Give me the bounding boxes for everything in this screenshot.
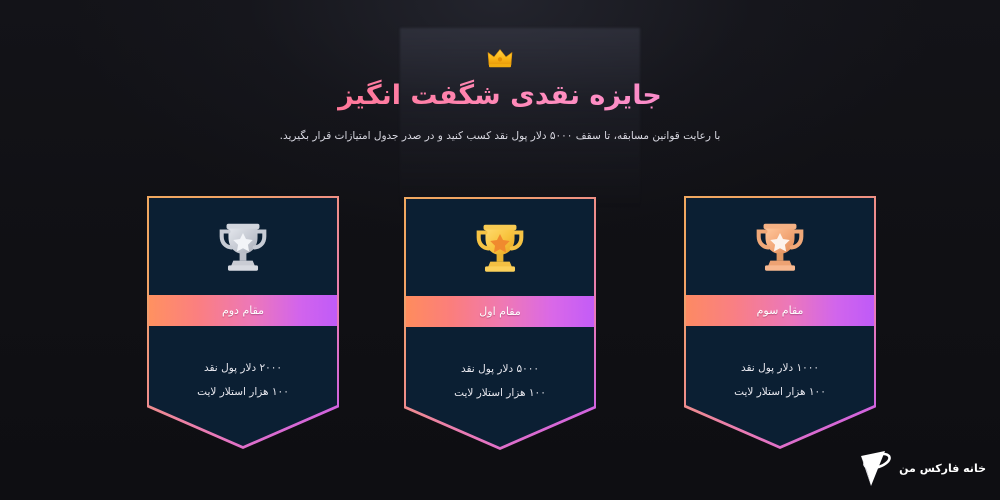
page-subtitle: با رعایت قوانین مسابقه، تا سقف ۵۰۰۰ دلار… [0, 128, 1000, 144]
trophy-silver-icon [149, 198, 337, 295]
prize-card-inner: مقام دوم ۲۰۰۰ دلار پول نقد ۱۰۰ هزار استل… [149, 198, 337, 447]
planet-arrow-logo-icon [847, 446, 893, 490]
reward-item: ۱۰۰ هزار استلار لایت [406, 381, 594, 405]
reward-item: ۲۰۰۰ دلار پول نقد [149, 356, 337, 380]
reward-item: ۱۰۰ هزار استلار لایت [686, 380, 874, 404]
prize-card-third[interactable]: مقام سوم ۱۰۰۰ دلار پول نقد ۱۰۰ هزار استل… [684, 196, 876, 449]
rewards-list: ۵۰۰۰ دلار پول نقد ۱۰۰ هزار استلار لایت [406, 327, 594, 405]
page-title: جایزه نقدی شگفت انگیز [0, 78, 1000, 114]
prize-card-first[interactable]: مقام اول ۵۰۰۰ دلار پول نقد ۱۰۰ هزار استل… [404, 197, 596, 450]
rank-ribbon: مقام اول [406, 296, 594, 327]
reward-item: ۵۰۰۰ دلار پول نقد [406, 357, 594, 381]
rewards-list: ۱۰۰۰ دلار پول نقد ۱۰۰ هزار استلار لایت [686, 326, 874, 404]
rank-label: مقام سوم [757, 304, 804, 317]
prize-card-second[interactable]: مقام دوم ۲۰۰۰ دلار پول نقد ۱۰۰ هزار استل… [147, 196, 339, 449]
rank-label: مقام اول [479, 305, 520, 318]
crown-icon [0, 42, 1000, 72]
reward-item: ۱۰۰ هزار استلار لایت [149, 380, 337, 404]
prize-cards: مقام دوم ۲۰۰۰ دلار پول نقد ۱۰۰ هزار استل… [0, 196, 1000, 456]
rank-ribbon: مقام سوم [686, 295, 874, 326]
prize-card-inner: مقام سوم ۱۰۰۰ دلار پول نقد ۱۰۰ هزار استل… [686, 198, 874, 447]
header: جایزه نقدی شگفت انگیز با رعایت قوانین مس… [0, 0, 1000, 144]
watermark-text: خانه فارکس من [899, 462, 986, 475]
trophy-gold-icon [406, 199, 594, 296]
watermark: خانه فارکس من [847, 446, 986, 490]
reward-item: ۱۰۰۰ دلار پول نقد [686, 356, 874, 380]
prize-card-inner: مقام اول ۵۰۰۰ دلار پول نقد ۱۰۰ هزار استل… [406, 199, 594, 448]
rank-label: مقام دوم [222, 304, 264, 317]
rewards-list: ۲۰۰۰ دلار پول نقد ۱۰۰ هزار استلار لایت [149, 326, 337, 404]
page-root: جایزه نقدی شگفت انگیز با رعایت قوانین مس… [0, 0, 1000, 500]
trophy-bronze-icon [686, 198, 874, 295]
rank-ribbon: مقام دوم [149, 295, 337, 326]
